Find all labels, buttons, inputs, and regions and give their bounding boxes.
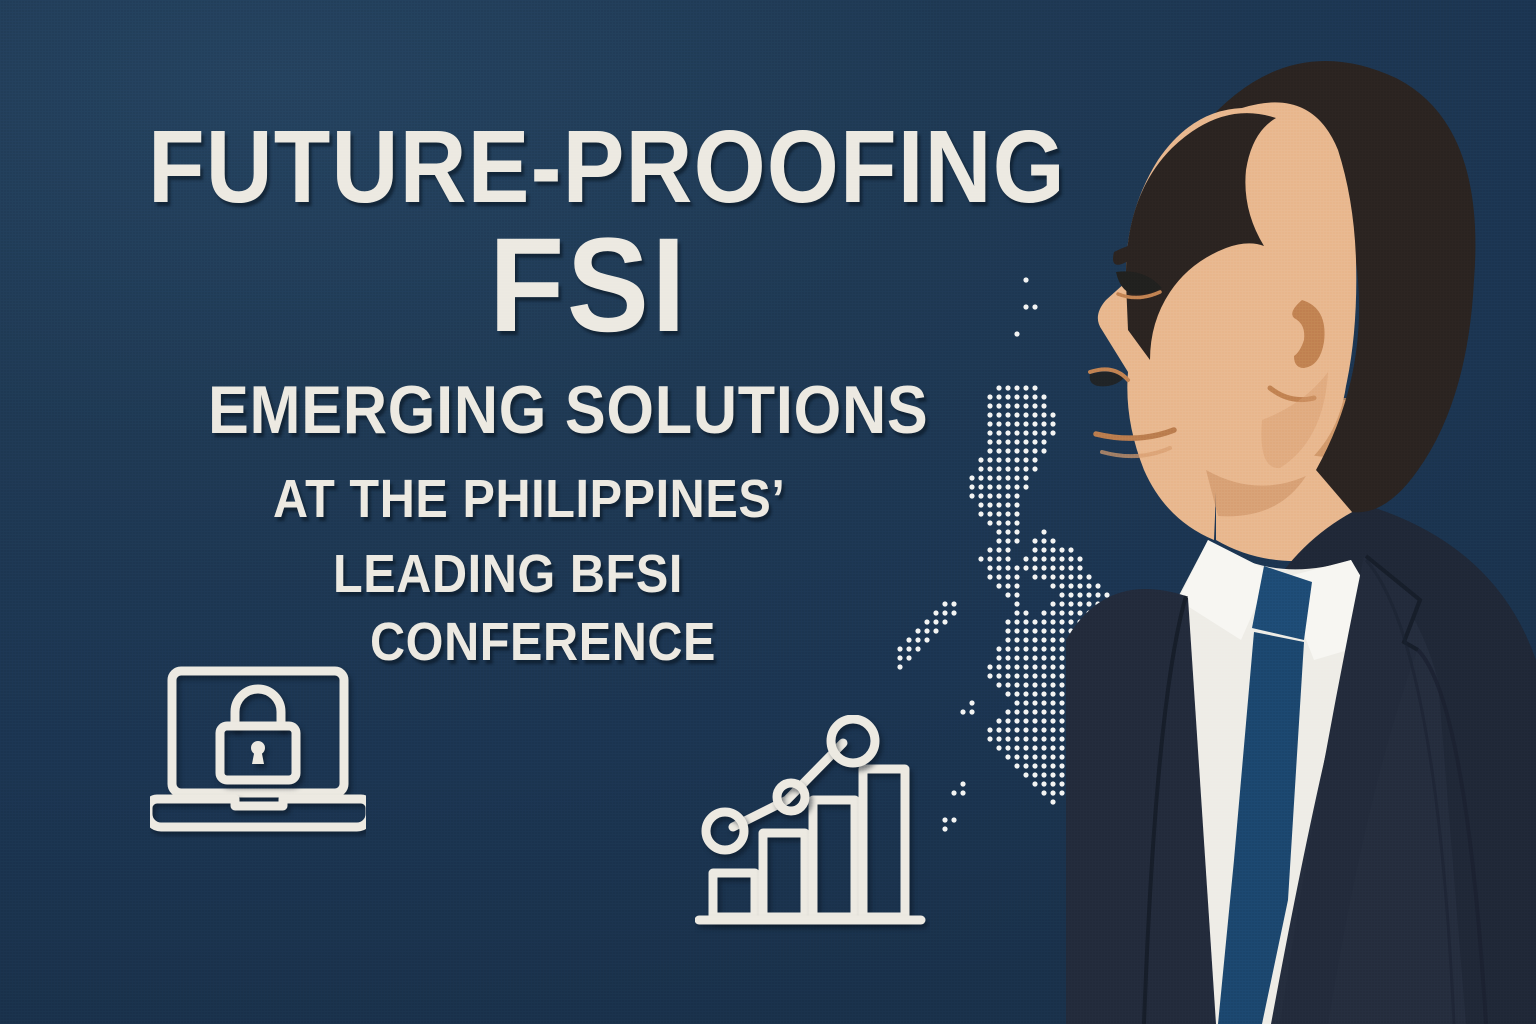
map-dot <box>1041 574 1046 579</box>
map-dot <box>1041 682 1046 687</box>
map-dot <box>1032 727 1037 732</box>
businessman-profile-illustration <box>1066 0 1536 1024</box>
map-dot <box>1014 412 1019 417</box>
map-dot <box>1041 637 1046 642</box>
growth-chart-icon <box>695 715 930 937</box>
map-dot <box>996 718 1001 723</box>
map-dot <box>1050 709 1055 714</box>
map-dot <box>1023 304 1028 309</box>
map-dot <box>1041 529 1046 534</box>
map-dot <box>1014 664 1019 669</box>
map-dot <box>1032 448 1037 453</box>
chart-node-3 <box>831 719 875 763</box>
map-dot <box>1014 511 1019 516</box>
map-dot <box>1014 754 1019 759</box>
map-dot <box>1005 727 1010 732</box>
map-dot <box>1059 718 1064 723</box>
map-dot <box>1005 736 1010 741</box>
map-dot <box>1050 610 1055 615</box>
map-dot <box>1059 583 1064 588</box>
subhead-line-2: AT THE PHILIPPINES’ <box>273 474 785 525</box>
map-dot <box>1023 763 1028 768</box>
laptop-lock-icon <box>150 663 366 838</box>
map-dot <box>1041 538 1046 543</box>
map-dot <box>1014 385 1019 390</box>
map-dot <box>1014 574 1019 579</box>
map-dot <box>1023 457 1028 462</box>
chart-node-1 <box>706 812 744 850</box>
map-dot <box>1032 628 1037 633</box>
map-dot <box>1050 655 1055 660</box>
map-dot <box>1050 799 1055 804</box>
map-dot <box>1059 547 1064 552</box>
map-dot <box>969 700 974 705</box>
map-dot <box>1059 772 1064 777</box>
map-dot <box>1023 628 1028 633</box>
map-dot <box>1050 421 1055 426</box>
map-dot <box>1032 421 1037 426</box>
map-dot <box>1014 529 1019 534</box>
map-dot <box>1050 583 1055 588</box>
map-dot <box>1032 394 1037 399</box>
map-dot <box>1050 700 1055 705</box>
chart-bar-2 <box>763 833 805 917</box>
map-dot <box>996 727 1001 732</box>
map-dot <box>960 709 965 714</box>
map-dot <box>1059 790 1064 795</box>
map-dot <box>1050 754 1055 759</box>
map-dot <box>1014 610 1019 615</box>
map-dot <box>1059 664 1064 669</box>
map-dot <box>1032 745 1037 750</box>
map-dot <box>942 817 947 822</box>
map-dot <box>1041 610 1046 615</box>
map-dot <box>1041 700 1046 705</box>
map-dot <box>1059 619 1064 624</box>
map-dot <box>1023 556 1028 561</box>
map-dot <box>1014 448 1019 453</box>
map-dot <box>1050 772 1055 777</box>
chart-bar-4 <box>863 769 905 917</box>
map-dot <box>969 709 974 714</box>
map-dot <box>1023 637 1028 642</box>
map-dot <box>1059 628 1064 633</box>
subhead-line-1: EMERGING SOLUTIONS <box>208 378 928 443</box>
map-dot <box>1032 655 1037 660</box>
map-dot <box>1050 790 1055 795</box>
map-dot <box>1059 700 1064 705</box>
map-dot <box>1050 682 1055 687</box>
map-dot <box>1041 448 1046 453</box>
map-dot <box>960 781 965 786</box>
map-dot <box>1050 412 1055 417</box>
map-dot <box>951 817 956 822</box>
map-dot <box>1032 565 1037 570</box>
map-dot <box>996 736 1001 741</box>
map-dot <box>1032 574 1037 579</box>
map-dot <box>1041 754 1046 759</box>
map-dot <box>1023 673 1028 678</box>
map-dot <box>1050 718 1055 723</box>
map-dot <box>1041 430 1046 435</box>
map-dot <box>1014 331 1019 336</box>
map-dot <box>1023 745 1028 750</box>
map-dot <box>1014 655 1019 660</box>
map-dot <box>1023 700 1028 705</box>
map-dot <box>1014 583 1019 588</box>
map-dot <box>1023 664 1028 669</box>
map-dot <box>1059 754 1064 759</box>
map-dot <box>1050 637 1055 642</box>
map-dot <box>1059 646 1064 651</box>
map-dot <box>1032 763 1037 768</box>
map-dot <box>1032 646 1037 651</box>
map-dot <box>1005 718 1010 723</box>
map-dot <box>1023 412 1028 417</box>
map-dot <box>1050 781 1055 786</box>
map-dot <box>1041 556 1046 561</box>
map-dot <box>1032 637 1037 642</box>
map-dot <box>1023 403 1028 408</box>
map-dot <box>1059 574 1064 579</box>
map-dot <box>1050 745 1055 750</box>
map-dot <box>1032 754 1037 759</box>
map-dot <box>1041 691 1046 696</box>
map-dot <box>1041 646 1046 651</box>
map-dot <box>1014 538 1019 543</box>
map-dot <box>1032 403 1037 408</box>
map-dot <box>1050 538 1055 543</box>
map-dot <box>1014 592 1019 597</box>
map-dot <box>1014 718 1019 723</box>
map-dot <box>1041 781 1046 786</box>
map-dot <box>1059 691 1064 696</box>
padlock-shackle <box>235 689 281 726</box>
map-dot <box>1050 574 1055 579</box>
map-dot <box>1050 727 1055 732</box>
map-dot <box>987 727 992 732</box>
map-dot <box>1032 673 1037 678</box>
map-dot <box>1032 736 1037 741</box>
map-dot <box>1014 637 1019 642</box>
map-dot <box>1032 430 1037 435</box>
map-dot <box>1032 691 1037 696</box>
map-dot <box>1023 466 1028 471</box>
map-dot <box>1059 763 1064 768</box>
map-dot <box>1032 457 1037 462</box>
map-dot <box>996 745 1001 750</box>
map-dot <box>1041 403 1046 408</box>
map-dot <box>1032 718 1037 723</box>
map-dot <box>1032 412 1037 417</box>
map-dot <box>1014 763 1019 768</box>
map-dot <box>1023 655 1028 660</box>
map-dot <box>1023 277 1028 282</box>
map-dot <box>1041 673 1046 678</box>
map-dot <box>1050 556 1055 561</box>
map-dot <box>1032 547 1037 552</box>
laptop-base <box>150 799 366 827</box>
map-dot <box>1023 385 1028 390</box>
subhead-line-4: CONFERENCE <box>370 617 716 668</box>
map-dot <box>1005 754 1010 759</box>
map-dot <box>1014 700 1019 705</box>
headline-line-2: FSI <box>489 222 688 349</box>
map-dot <box>1050 565 1055 570</box>
map-dot <box>1023 718 1028 723</box>
map-dot <box>1050 547 1055 552</box>
map-dot <box>1059 655 1064 660</box>
map-dot <box>1005 709 1010 714</box>
map-dot <box>1050 430 1055 435</box>
map-dot <box>960 790 965 795</box>
map-dot <box>1014 682 1019 687</box>
map-dot <box>1014 520 1019 525</box>
map-dot <box>951 790 956 795</box>
map-dot <box>1041 727 1046 732</box>
map-dot <box>1041 790 1046 795</box>
map-dot <box>1014 421 1019 426</box>
map-dot <box>1023 565 1028 570</box>
map-dot <box>1014 646 1019 651</box>
map-dot <box>1023 691 1028 696</box>
chart-bar-3 <box>813 800 855 917</box>
map-dot <box>1014 502 1019 507</box>
map-dot <box>1014 565 1019 570</box>
subhead-line-3: LEADING BFSI <box>333 549 683 600</box>
map-dot <box>1023 619 1028 624</box>
map-dot <box>1041 412 1046 417</box>
map-dot <box>1023 475 1028 480</box>
map-dot <box>1032 682 1037 687</box>
map-dot <box>987 736 992 741</box>
map-dot <box>1050 601 1055 606</box>
map-dot <box>1023 709 1028 714</box>
map-dot <box>1023 421 1028 426</box>
map-dot <box>1014 601 1019 606</box>
map-dot <box>1014 493 1019 498</box>
map-dot <box>1041 664 1046 669</box>
map-dot <box>1050 673 1055 678</box>
map-dot <box>1050 691 1055 696</box>
map-dot <box>1041 745 1046 750</box>
map-dot <box>1014 727 1019 732</box>
map-dot <box>1059 610 1064 615</box>
map-dot <box>1032 538 1037 543</box>
map-dot <box>1023 439 1028 444</box>
map-dot <box>1032 709 1037 714</box>
map-dot <box>1032 700 1037 705</box>
map-dot <box>1041 547 1046 552</box>
map-dot <box>1032 781 1037 786</box>
map-dot <box>1023 727 1028 732</box>
map-dot <box>1014 691 1019 696</box>
map-dot <box>1041 763 1046 768</box>
map-dot <box>1032 619 1037 624</box>
map-dot <box>1041 565 1046 570</box>
map-dot <box>1041 736 1046 741</box>
map-dot <box>1059 565 1064 570</box>
map-dot <box>1032 664 1037 669</box>
map-dot <box>1023 484 1028 489</box>
map-dot <box>1014 439 1019 444</box>
map-dot <box>1041 628 1046 633</box>
map-dot <box>1041 421 1046 426</box>
map-dot <box>1041 439 1046 444</box>
map-dot <box>1059 682 1064 687</box>
padlock-keyhole <box>251 741 265 764</box>
map-dot <box>1050 619 1055 624</box>
map-dot <box>1041 709 1046 714</box>
map-dot <box>1014 619 1019 624</box>
map-dot <box>1059 592 1064 597</box>
map-dot <box>1014 673 1019 678</box>
map-dot <box>1014 628 1019 633</box>
map-dot <box>1014 475 1019 480</box>
map-dot <box>1032 385 1037 390</box>
map-dot <box>1059 727 1064 732</box>
map-dot <box>1059 781 1064 786</box>
map-dot <box>1050 736 1055 741</box>
map-dot <box>1032 772 1037 777</box>
map-dot <box>1014 394 1019 399</box>
map-dot <box>1059 556 1064 561</box>
map-dot <box>1005 745 1010 750</box>
map-dot <box>1023 448 1028 453</box>
chart-bar-1 <box>713 873 755 917</box>
headline-line-1: FUTURE-PROOFING <box>148 118 1066 216</box>
map-dot <box>1032 304 1037 309</box>
map-dot <box>1032 439 1037 444</box>
map-dot <box>1014 736 1019 741</box>
map-dot <box>942 826 947 831</box>
map-dot <box>1014 457 1019 462</box>
map-dot <box>1059 601 1064 606</box>
map-dot <box>1032 466 1037 471</box>
poster-canvas: FUTURE-PROOFING FSI EMERGING SOLUTIONS A… <box>0 0 1536 1024</box>
map-dot <box>1014 484 1019 489</box>
map-dot <box>1014 430 1019 435</box>
map-dot <box>1023 430 1028 435</box>
map-dot <box>1023 736 1028 741</box>
map-dot <box>1050 628 1055 633</box>
map-dot <box>1041 718 1046 723</box>
map-dot <box>1023 394 1028 399</box>
map-dot <box>1023 646 1028 651</box>
map-dot <box>1050 646 1055 651</box>
map-dot <box>1050 664 1055 669</box>
map-dot <box>1059 736 1064 741</box>
map-dot <box>1023 772 1028 777</box>
map-dot <box>1032 556 1037 561</box>
map-dot <box>1059 745 1064 750</box>
map-dot <box>1014 403 1019 408</box>
map-dot <box>1023 754 1028 759</box>
map-dot <box>1059 709 1064 714</box>
map-dot <box>1059 637 1064 642</box>
map-dot <box>1059 673 1064 678</box>
map-dot <box>1023 682 1028 687</box>
headline-block: FUTURE-PROOFING FSI EMERGING SOLUTIONS A… <box>0 0 1010 700</box>
map-dot <box>1050 763 1055 768</box>
map-dot <box>1041 619 1046 624</box>
map-dot <box>1023 610 1028 615</box>
map-dot <box>1041 655 1046 660</box>
map-dot <box>1014 745 1019 750</box>
map-dot <box>1014 466 1019 471</box>
map-dot <box>1014 709 1019 714</box>
map-dot <box>1041 394 1046 399</box>
map-dot <box>1041 772 1046 777</box>
